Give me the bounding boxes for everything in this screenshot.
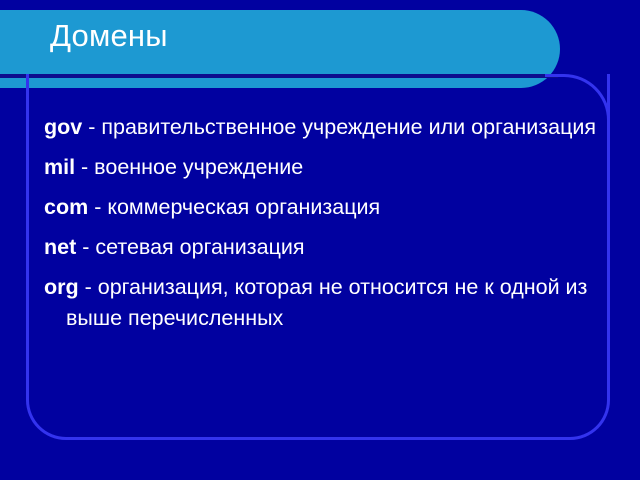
domain-description: - организация, которая не относится не к…	[66, 275, 587, 330]
list-item: com - коммерческая организация	[44, 192, 604, 223]
domain-list: gov - правительственное учреждение или о…	[44, 112, 604, 343]
list-item: org - организация, которая не относится …	[44, 272, 604, 334]
domain-description: - коммерческая организация	[88, 195, 380, 219]
domain-description: - военное учреждение	[75, 155, 303, 179]
domain-description: - сетевая организация	[76, 235, 304, 259]
domain-tag: mil	[44, 155, 75, 179]
domain-tag: gov	[44, 115, 82, 139]
page-title: Домены	[50, 18, 168, 54]
domain-tag: net	[44, 235, 76, 259]
domain-description: - правительственное учреждение или орган…	[82, 115, 596, 139]
title-underline-rule	[0, 74, 558, 78]
domain-tag: com	[44, 195, 88, 219]
list-item: net - сетевая организация	[44, 232, 604, 263]
list-item: mil - военное учреждение	[44, 152, 604, 183]
slide: Домены gov - правительственное учреждени…	[0, 0, 640, 480]
domain-tag: org	[44, 275, 79, 299]
list-item: gov - правительственное учреждение или о…	[44, 112, 604, 143]
